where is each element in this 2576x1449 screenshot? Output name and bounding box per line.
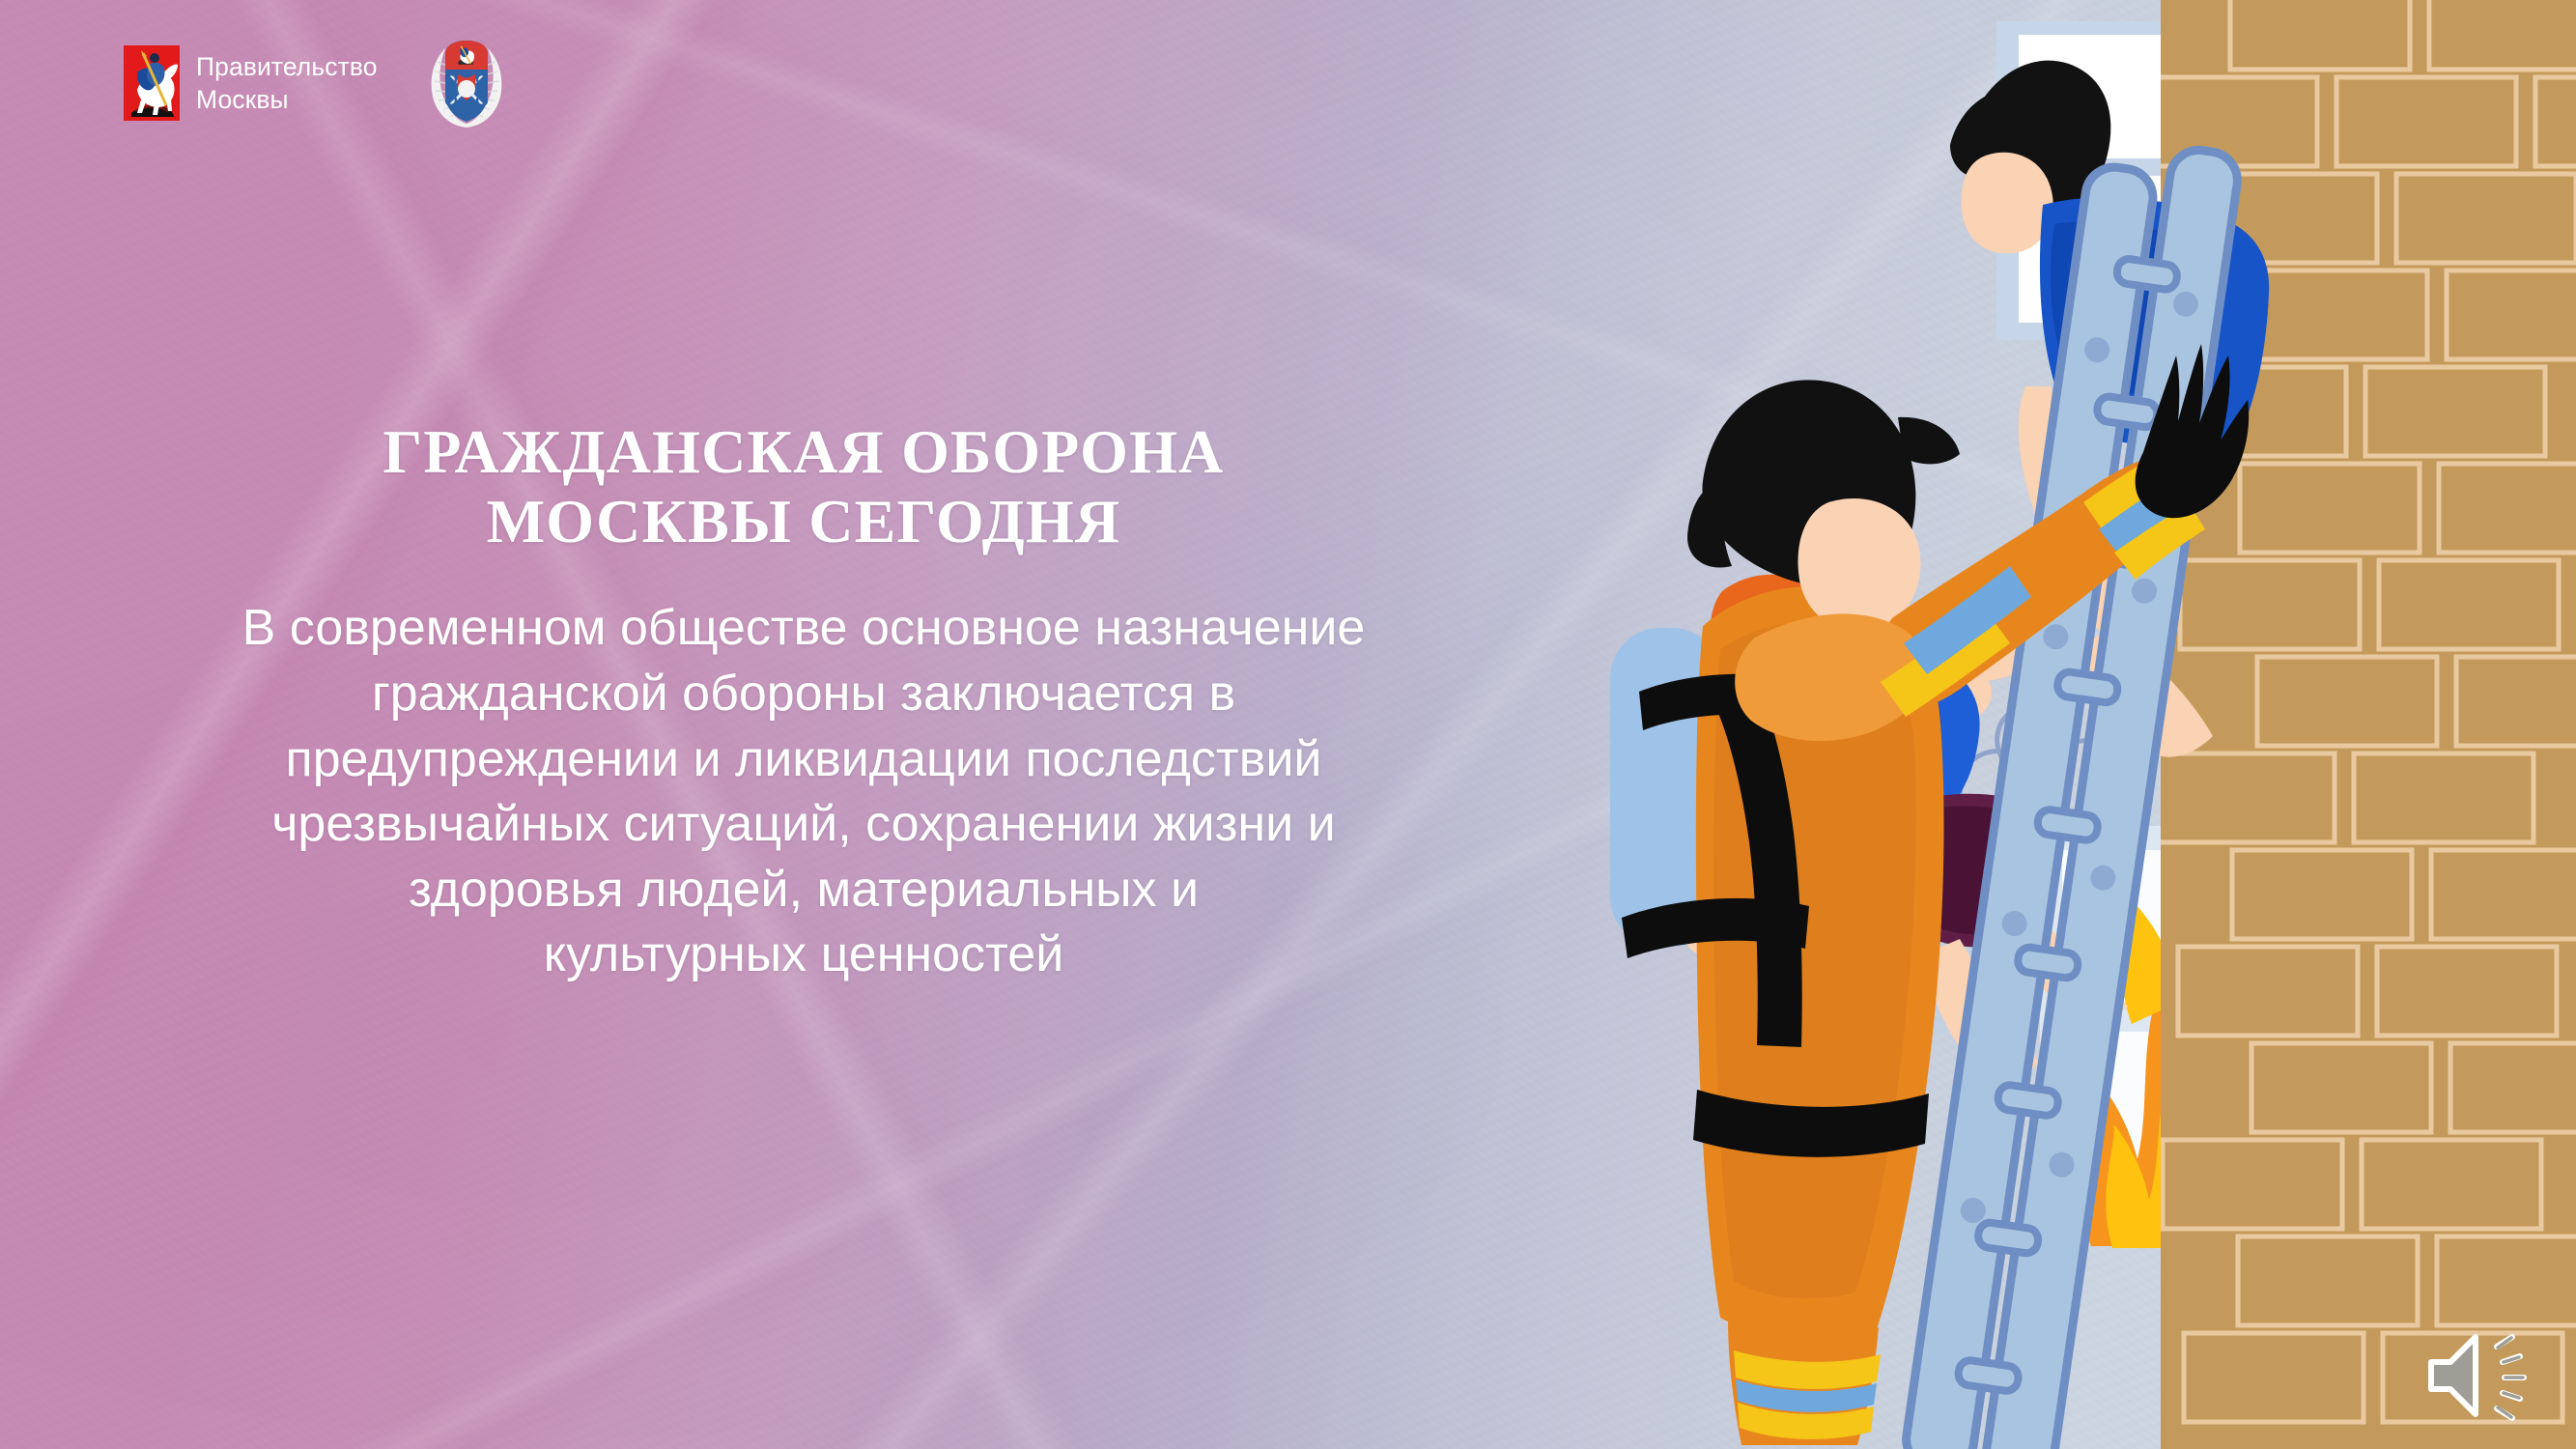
speaker-audio-icon[interactable] <box>2418 1325 2541 1426</box>
slide-text-block: ГРАЖДАНСКАЯ ОБОРОНА МОСКВЫ СЕГОДНЯ В сов… <box>224 417 1383 988</box>
firefighter-rescue-illustration <box>1514 0 2576 1449</box>
audio-playback-control[interactable] <box>2418 1325 2541 1426</box>
government-label: Правительство Москвы <box>196 50 378 117</box>
page-title: ГРАЖДАНСКАЯ ОБОРОНА МОСКВЫ СЕГОДНЯ <box>224 417 1383 555</box>
header-logos: Правительство Москвы <box>124 37 507 129</box>
body-paragraph: В современном обществе основное назначен… <box>224 596 1383 988</box>
moscow-coat-of-arms-icon <box>124 45 180 121</box>
moscow-government-logo: Правительство Москвы <box>124 45 378 121</box>
presentation-slide: Правительство Москвы <box>0 0 2576 1449</box>
civil-defense-emblem-icon <box>426 37 507 129</box>
